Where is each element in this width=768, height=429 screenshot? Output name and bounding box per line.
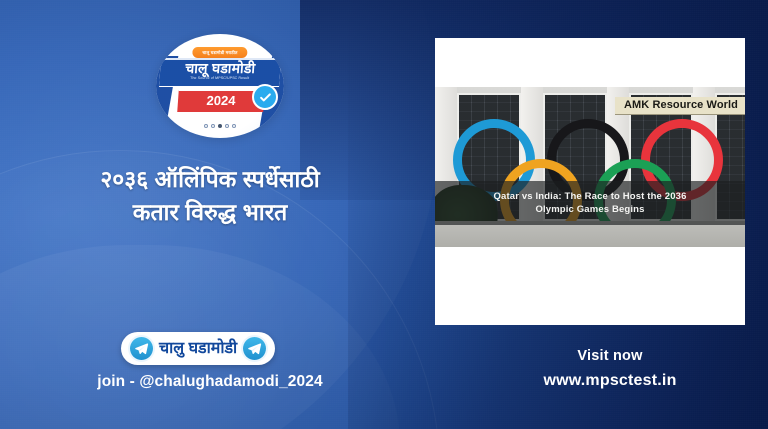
caption-line-1: Qatar vs India: The Race to Host the 203… bbox=[493, 191, 686, 202]
headline: २०३६ ऑलिंपिक स्पर्धेसाठी कतार विरुद्ध भा… bbox=[30, 163, 390, 230]
image-card: AMK Resource World Qatar vs India: The R… bbox=[435, 38, 745, 325]
telegram-cta-button[interactable]: चालु घडामोडी bbox=[121, 332, 275, 365]
telegram-icon-left bbox=[130, 337, 153, 360]
badge-dot bbox=[225, 124, 229, 128]
badge-subtitle-text: The Source of MPSC/UPSC Result bbox=[160, 76, 280, 80]
telegram-cta-label: चालु घडामोडी bbox=[159, 341, 237, 357]
visit-now-label: Visit now bbox=[480, 348, 740, 364]
badge-dot-active bbox=[218, 124, 222, 128]
badge-dot bbox=[211, 124, 215, 128]
badge-pill-label: चालू घडामोडी मराठीत bbox=[191, 46, 248, 59]
website-url[interactable]: www.mpsctest.in bbox=[480, 372, 740, 390]
headline-line-2: कतार विरुद्ध भारत bbox=[30, 196, 390, 229]
badge-title-bar: चालू घडामोडी The Source of MPSC/UPSC Res… bbox=[159, 60, 281, 86]
visit-site-block: Visit now www.mpsctest.in bbox=[480, 348, 740, 390]
poster-canvas: चालू घडामोडी मराठीत चालू घडामोडी The Sou… bbox=[0, 0, 768, 429]
badge-title-text: चालू घडामोडी bbox=[160, 61, 281, 75]
brand-badge-logo: चालू घडामोडी मराठीत चालू घडामोडी The Sou… bbox=[156, 34, 284, 138]
check-icon bbox=[252, 84, 278, 110]
telegram-join-handle[interactable]: join - @chalughadamodi_2024 bbox=[30, 373, 390, 391]
amk-resource-world-banner: AMK Resource World bbox=[615, 97, 745, 115]
telegram-icon-right bbox=[243, 337, 266, 360]
photo-caption-band: Qatar vs India: The Race to Host the 203… bbox=[435, 181, 745, 225]
badge-dot-row bbox=[156, 124, 284, 128]
caption-line-2: Olympic Games Begins bbox=[535, 204, 644, 215]
badge-dot bbox=[232, 124, 236, 128]
olympic-rings-photo: AMK Resource World Qatar vs India: The R… bbox=[435, 87, 745, 247]
headline-line-1: २०३६ ऑलिंपिक स्पर्धेसाठी bbox=[100, 166, 319, 192]
badge-dot bbox=[204, 124, 208, 128]
